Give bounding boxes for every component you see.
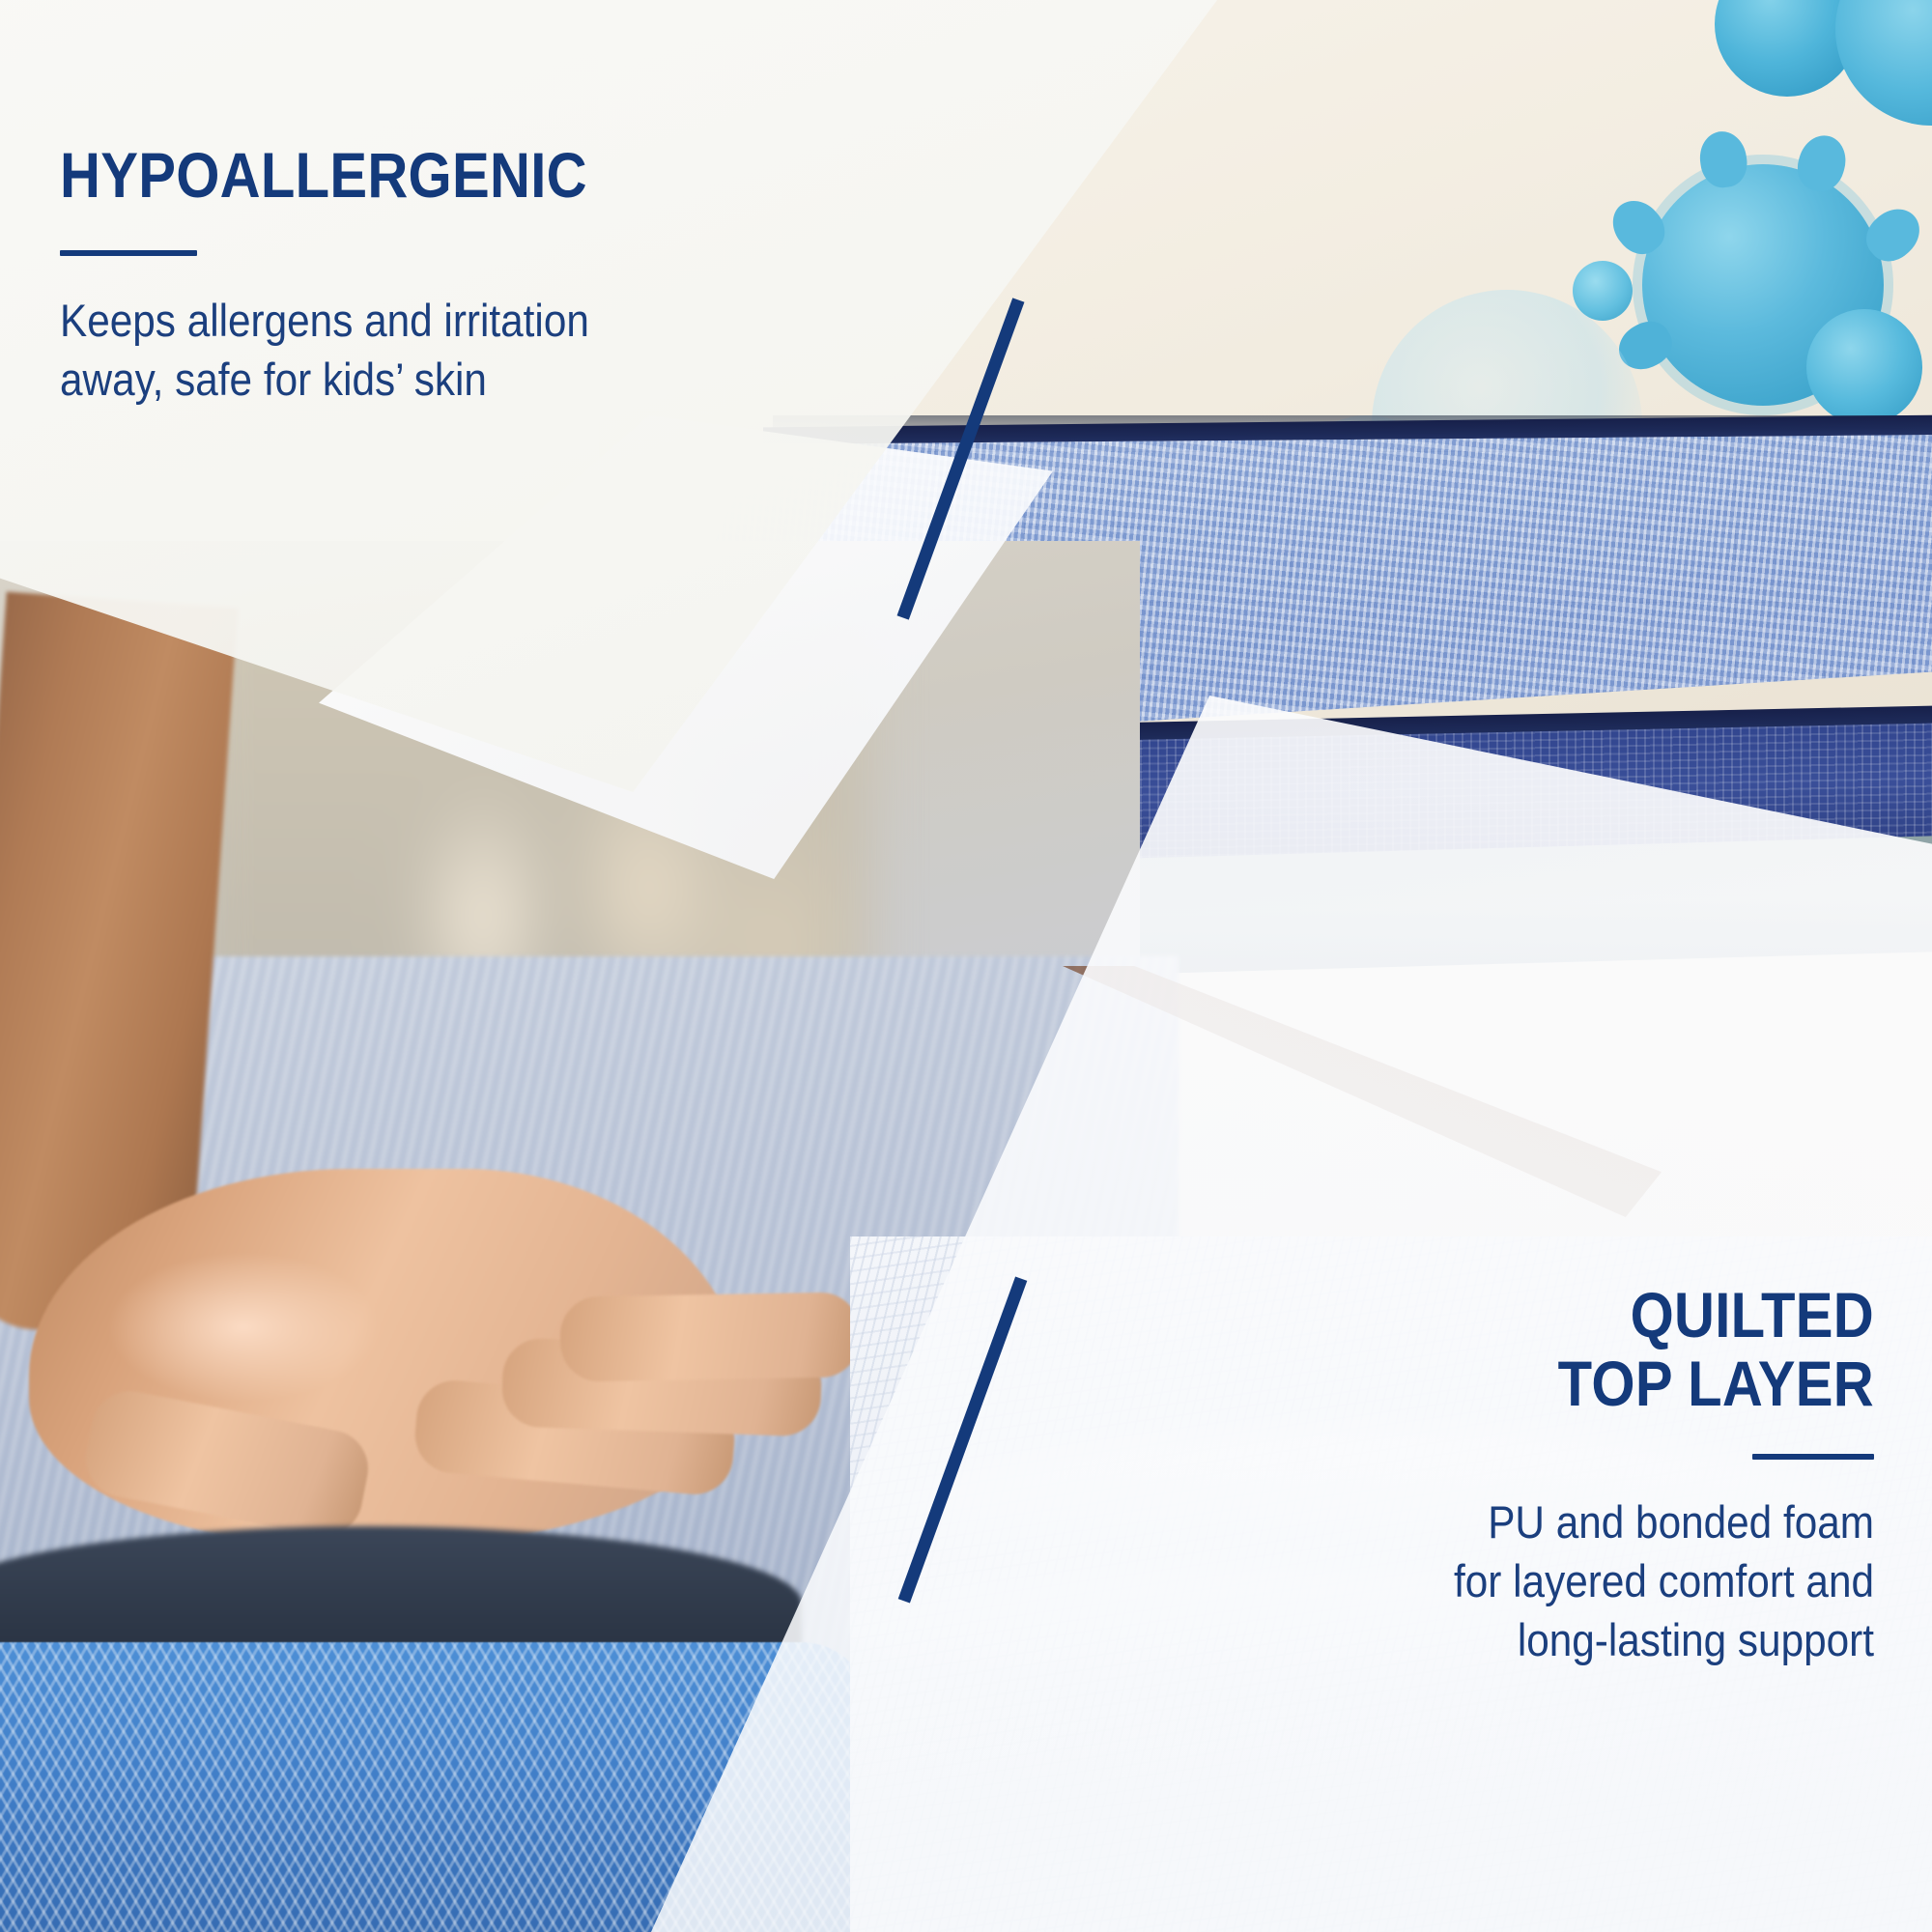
finger-ring <box>559 1292 860 1381</box>
feature-body-line: away, safe for kids’ skin <box>60 350 686 409</box>
infographic-canvas: HYPOALLERGENIC Keeps allergens and irrit… <box>0 0 1932 1932</box>
feature-body-line: for layered comfort and <box>1092 1551 1874 1610</box>
feature-block-hypoallergenic: HYPOALLERGENIC Keeps allergens and irrit… <box>60 145 794 410</box>
virus-particle-right <box>1806 309 1922 425</box>
feature-body-hypoallergenic: Keeps allergens and irritation away, saf… <box>60 291 686 409</box>
accent-rule-hypoallergenic <box>60 250 197 256</box>
feature-heading-hypoallergenic: HYPOALLERGENIC <box>60 145 706 206</box>
accent-rule-quilted <box>1752 1454 1874 1460</box>
feature-block-quilted-top-layer: QUILTED TOP LAYER PU and bonded foam for… <box>1005 1285 1874 1669</box>
feature-heading-quilted: QUILTED TOP LAYER <box>1109 1285 1874 1415</box>
feature-body-quilted: PU and bonded foam for layered comfort a… <box>1092 1492 1874 1669</box>
feature-heading-line: TOP LAYER <box>1109 1353 1874 1414</box>
feature-body-line: PU and bonded foam <box>1092 1492 1874 1551</box>
feature-body-line: long-lasting support <box>1092 1610 1874 1669</box>
feature-body-line: Keeps allergens and irritation <box>60 291 686 350</box>
feature-heading-line: QUILTED <box>1109 1285 1874 1346</box>
